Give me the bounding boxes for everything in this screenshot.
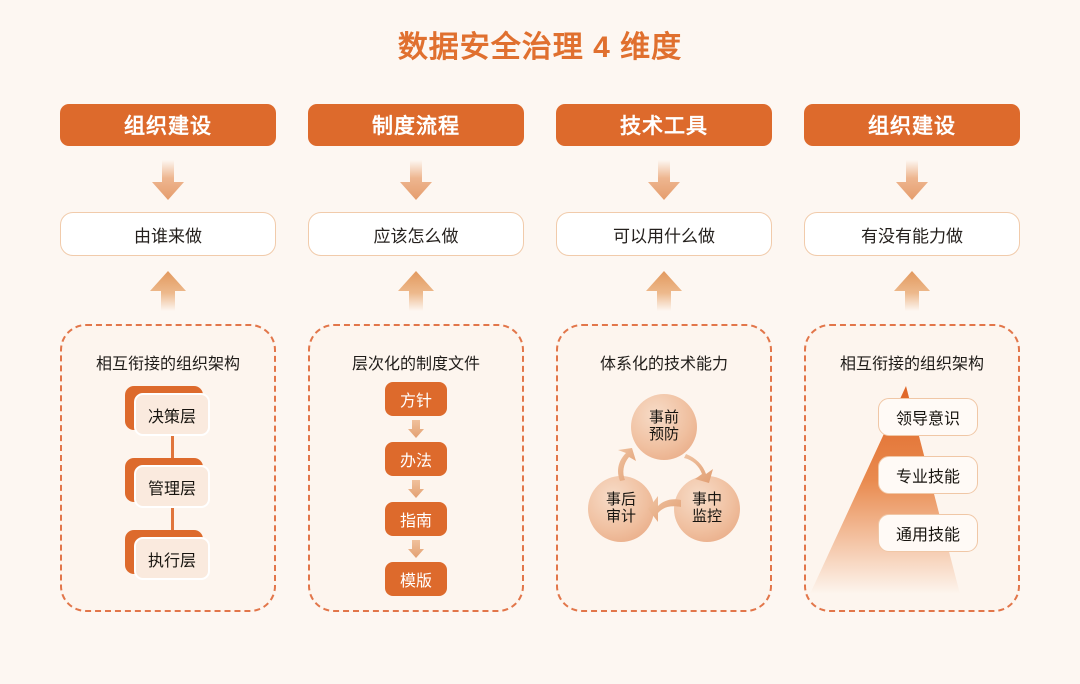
dimension-column-1: 组织建设 由谁来做 相互衔接的组织架构 决策层 xyxy=(60,104,276,612)
doc-box[interactable]: 指南 xyxy=(385,502,447,536)
panel-title-1: 相互衔接的组织架构 xyxy=(96,350,240,374)
security-lifecycle-cycle: 事前 预防 事中 监控 事后 审计 xyxy=(564,380,764,600)
detail-panel-4: 相互衔接的组织架构 领导意识 专业技能 通用技能 xyxy=(804,324,1020,612)
column-question-3: 可以用什么做 xyxy=(556,212,772,256)
capability-pyramid: 领导意识 专业技能 通用技能 xyxy=(806,380,1018,610)
cycle-node-line2: 预防 xyxy=(649,427,679,444)
org-layer-item[interactable]: 决策层 xyxy=(125,386,211,436)
column-header-2[interactable]: 制度流程 xyxy=(308,104,524,146)
org-layer-stack: 决策层 管理层 执行层 xyxy=(125,386,211,580)
panel-body-2: 方针 办法 指南 模版 xyxy=(310,380,522,610)
doc-box[interactable]: 办法 xyxy=(385,442,447,476)
column-question-1: 由谁来做 xyxy=(60,212,276,256)
arrow-down-icon xyxy=(895,160,929,200)
arrow-down-icon xyxy=(399,160,433,200)
arrow-down-icon xyxy=(647,160,681,200)
panel-body-3: 事前 预防 事中 监控 事后 审计 xyxy=(558,380,770,610)
dimension-column-3: 技术工具 可以用什么做 体系化的技术能力 事前 预防 事中 监控 xyxy=(556,104,772,612)
column-header-3[interactable]: 技术工具 xyxy=(556,104,772,146)
arrow-down-icon xyxy=(151,160,185,200)
small-arrow-down-icon xyxy=(407,420,425,438)
panel-title-2: 层次化的制度文件 xyxy=(352,350,480,374)
dimension-columns: 组织建设 由谁来做 相互衔接的组织架构 决策层 xyxy=(60,104,1020,612)
cycle-arrow-icon xyxy=(614,448,646,482)
panel-body-4: 领导意识 专业技能 通用技能 xyxy=(806,380,1018,610)
org-layer-item[interactable]: 管理层 xyxy=(125,458,211,508)
cycle-node-line1: 事中 xyxy=(692,492,722,509)
cycle-node-line2: 审计 xyxy=(606,509,636,526)
column-header-4[interactable]: 组织建设 xyxy=(804,104,1020,146)
dimension-column-4: 组织建设 有没有能力做 相互衔接的组织架构 xyxy=(804,104,1020,612)
arrow-up-icon xyxy=(893,270,931,312)
cycle-arrow-icon xyxy=(682,452,714,484)
layer-label: 决策层 xyxy=(134,393,210,436)
page-title: 数据安全治理 4 维度 xyxy=(0,22,1080,66)
cycle-node-line1: 事前 xyxy=(649,410,679,427)
layer-connector xyxy=(171,508,174,530)
column-question-4: 有没有能力做 xyxy=(804,212,1020,256)
cycle-node-line2: 监控 xyxy=(692,509,722,526)
panel-body-1: 决策层 管理层 执行层 xyxy=(62,380,274,610)
column-question-2: 应该怎么做 xyxy=(308,212,524,256)
skill-card[interactable]: 通用技能 xyxy=(878,514,978,552)
skill-card[interactable]: 领导意识 xyxy=(878,398,978,436)
panel-title-4: 相互衔接的组织架构 xyxy=(840,350,984,374)
detail-panel-1: 相互衔接的组织架构 决策层 管理层 执行层 xyxy=(60,324,276,612)
layer-connector xyxy=(171,436,174,458)
cycle-node-audit[interactable]: 事后 审计 xyxy=(588,476,654,542)
arrow-up-icon xyxy=(645,270,683,312)
layer-label: 执行层 xyxy=(134,537,210,580)
skill-card-list: 领导意识 专业技能 通用技能 xyxy=(878,398,978,552)
doc-box[interactable]: 方针 xyxy=(385,382,447,416)
arrow-up-icon xyxy=(397,270,435,312)
detail-panel-3: 体系化的技术能力 事前 预防 事中 监控 事后 审计 xyxy=(556,324,772,612)
policy-document-chain: 方针 办法 指南 模版 xyxy=(385,382,447,596)
doc-box[interactable]: 模版 xyxy=(385,562,447,596)
layer-label: 管理层 xyxy=(134,465,210,508)
skill-card[interactable]: 专业技能 xyxy=(878,456,978,494)
org-layer-item[interactable]: 执行层 xyxy=(125,530,211,580)
cycle-node-monitoring[interactable]: 事中 监控 xyxy=(674,476,740,542)
column-header-1[interactable]: 组织建设 xyxy=(60,104,276,146)
small-arrow-down-icon xyxy=(407,540,425,558)
detail-panel-2: 层次化的制度文件 方针 办法 指南 xyxy=(308,324,524,612)
small-arrow-down-icon xyxy=(407,480,425,498)
dimension-column-2: 制度流程 应该怎么做 层次化的制度文件 方针 办法 xyxy=(308,104,524,612)
cycle-node-line1: 事后 xyxy=(606,492,636,509)
cycle-arrow-icon xyxy=(648,494,682,524)
arrow-up-icon xyxy=(149,270,187,312)
panel-title-3: 体系化的技术能力 xyxy=(600,350,728,374)
